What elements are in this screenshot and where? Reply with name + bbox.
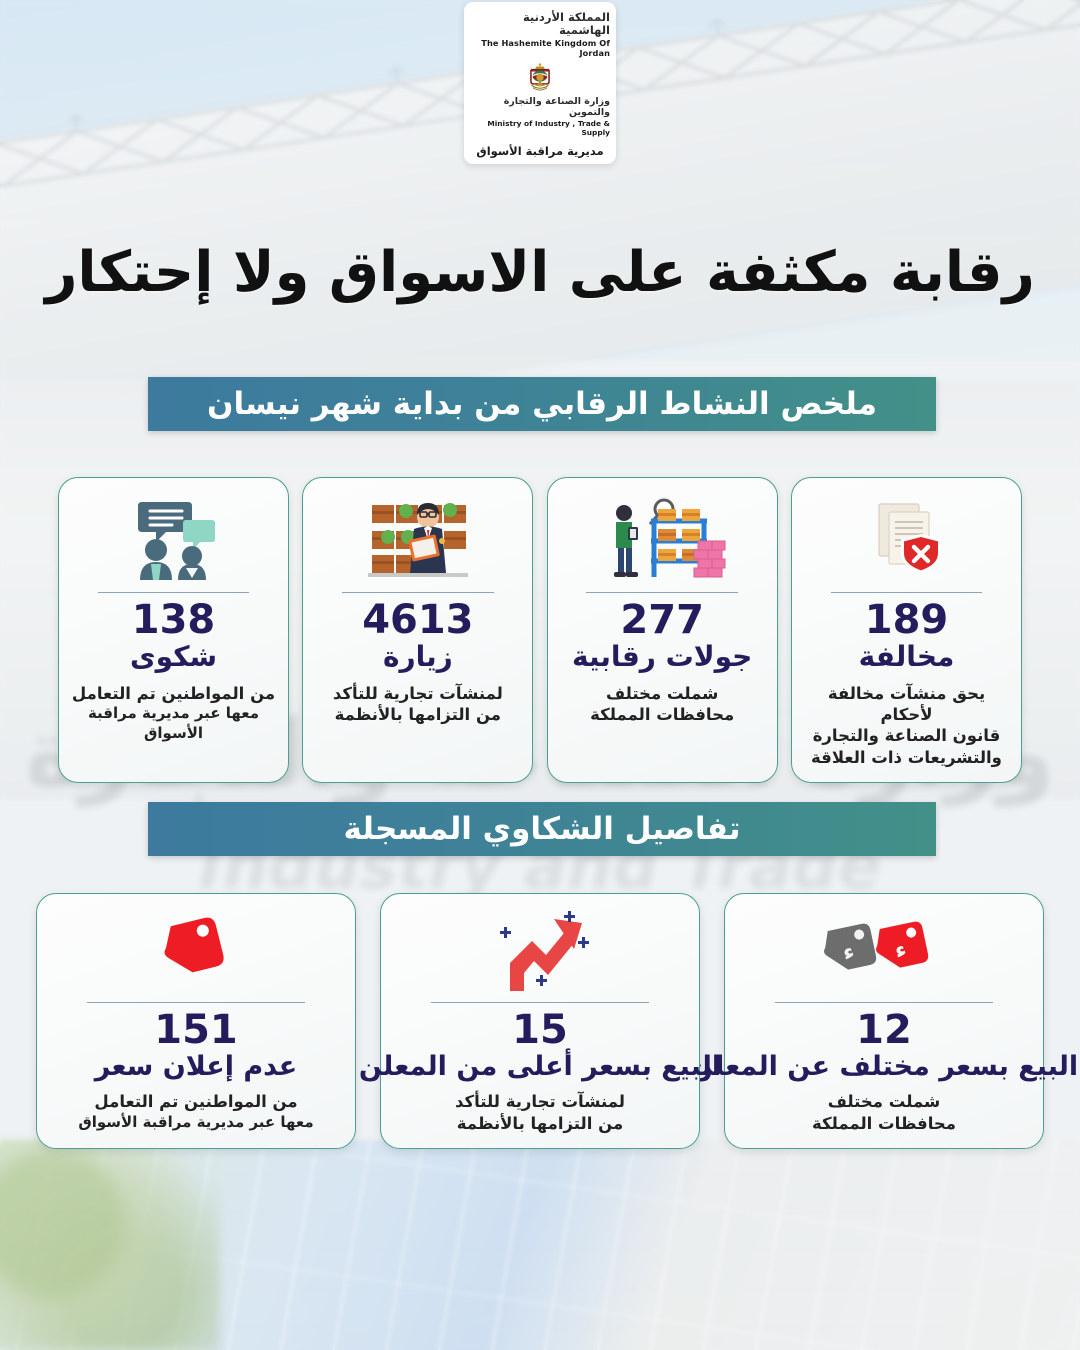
two-price-tags-icon: ء ء xyxy=(819,910,949,996)
ministry-name-english: Ministry of Industry , Trade & Supply xyxy=(470,119,610,137)
stat-description: شملت مختلف محافظات المملكة xyxy=(590,683,734,726)
card-divider xyxy=(342,592,494,593)
desc-line: والتشريعات ذات العلاقة xyxy=(804,747,1009,768)
stat-number: 138 xyxy=(132,599,216,641)
stat-card-inspection-rounds[interactable]: 277 جولات رقابية شملت مختلف محافظات المم… xyxy=(547,477,778,783)
section-banner-label: ملخص النشاط الرقابي من بداية شهر نيسان xyxy=(207,386,877,422)
stat-description: يحق منشآت مخالفة لأحكام قانون الصناعة وا… xyxy=(804,683,1009,769)
stat-description: من المواطنين تم التعامل معها عبر مديرية … xyxy=(71,683,276,743)
infographic-page: المملكة الأردنية الهاشمية The Hashemite … xyxy=(0,0,1080,1350)
stat-label: جولات رقابية xyxy=(572,641,752,673)
desc-line: لمنشآت تجارية للتأكد xyxy=(333,683,503,704)
card-divider xyxy=(87,1002,305,1003)
kingdom-name-arabic: المملكة الأردنية الهاشمية xyxy=(470,11,610,36)
card-divider xyxy=(775,1002,993,1003)
stat-label: شكوى xyxy=(130,641,217,673)
section-banner-label: تفاصيل الشكاوي المسجلة xyxy=(344,811,741,847)
rising-arrow-price-icon xyxy=(480,910,600,996)
stat-description: شملت مختلف محافظات المملكة xyxy=(812,1091,956,1134)
desc-line: يحق منشآت مخالفة لأحكام xyxy=(804,683,1009,726)
ministry-name-arabic: وزارة الصناعة والتجارة والتموين xyxy=(470,97,610,118)
stat-number: 189 xyxy=(865,599,949,641)
stat-number: 4613 xyxy=(362,599,473,641)
desc-line: قانون الصناعة والتجارة xyxy=(804,725,1009,746)
stat-number: 12 xyxy=(856,1009,912,1051)
kingdom-name-english: The Hashemite Kingdom Of Jordan xyxy=(470,38,610,58)
page-title: رقابة مكثفة على الاسواق ولا إحتكار xyxy=(0,240,1080,305)
desc-line: شملت مختلف xyxy=(812,1091,956,1112)
department-name: مديرية مراقبة الأسواق xyxy=(476,144,603,158)
stat-card-complaints[interactable]: 138 شكوى من المواطنين تم التعامل معها عب… xyxy=(58,477,289,783)
section-banner-activity-summary: ملخص النشاط الرقابي من بداية شهر نيسان xyxy=(148,377,936,431)
desc-line: من التزامها بالأنظمة xyxy=(455,1113,625,1134)
desc-line: معها عبر مديرية مراقبة الأسواق xyxy=(78,1113,313,1133)
jordan-coat-of-arms-icon xyxy=(514,61,566,95)
stat-cards-row-top: 189 مخالفة يحق منشآت مخالفة لأحكام قانون… xyxy=(58,477,1022,783)
stat-number: 15 xyxy=(512,1009,568,1051)
ministry-logo-card: المملكة الأردنية الهاشمية The Hashemite … xyxy=(464,2,616,164)
people-speech-bubbles-complaint-icon xyxy=(124,494,224,586)
desc-line: من التزامها بالأنظمة xyxy=(333,704,503,725)
desc-line: محافظات المملكة xyxy=(590,704,734,725)
card-divider xyxy=(431,1002,649,1003)
inspector-warehouse-magnifier-icon xyxy=(598,494,726,586)
card-divider xyxy=(586,592,738,593)
documents-shield-violation-icon xyxy=(865,494,949,586)
stat-label: البيع بسعر أعلى من المعلن xyxy=(359,1051,721,1082)
stat-label: مخالفة xyxy=(859,641,955,673)
stat-card-price-differs[interactable]: ء ء 12 البيع بسعر مختلف عن المعلن شملت م… xyxy=(724,893,1044,1149)
stat-description: لمنشآت تجارية للتأكد من التزامها بالأنظم… xyxy=(333,683,503,726)
desc-line: شملت مختلف xyxy=(590,683,734,704)
desc-line: محافظات المملكة xyxy=(812,1113,956,1134)
desc-line: معها عبر مديرية مراقبة الأسواق xyxy=(71,704,276,743)
section-banner-complaint-details: تفاصيل الشكاوي المسجلة xyxy=(148,802,936,856)
desc-line: من المواطنين تم التعامل xyxy=(71,683,276,704)
desc-line: لمنشآت تجارية للتأكد xyxy=(455,1091,625,1112)
stat-card-violations[interactable]: 189 مخالفة يحق منشآت مخالفة لأحكام قانون… xyxy=(791,477,1022,783)
desc-line: من المواطنين تم التعامل xyxy=(78,1091,313,1112)
stat-card-price-higher[interactable]: 15 البيع بسعر أعلى من المعلن لمنشآت تجار… xyxy=(380,893,700,1149)
stat-card-no-price-display[interactable]: 151 عدم إعلان سعر من المواطنين تم التعام… xyxy=(36,893,356,1149)
stat-label: عدم إعلان سعر xyxy=(95,1051,297,1082)
single-price-tag-icon xyxy=(148,910,244,996)
stat-number: 277 xyxy=(620,599,704,641)
stat-description: من المواطنين تم التعامل معها عبر مديرية … xyxy=(78,1091,313,1132)
stat-number: 151 xyxy=(154,1009,238,1051)
stat-card-visits[interactable]: 4613 زيارة لمنشآت تجارية للتأكد من التزا… xyxy=(302,477,533,783)
stat-description: لمنشآت تجارية للتأكد من التزامها بالأنظم… xyxy=(455,1091,625,1134)
inspector-clipboard-shelves-icon xyxy=(358,494,478,586)
stat-cards-row-bottom: ء ء 12 البيع بسعر مختلف عن المعلن شملت م… xyxy=(36,893,1044,1149)
stat-label: البيع بسعر مختلف عن المعلن xyxy=(690,1051,1078,1082)
stat-label: زيارة xyxy=(383,641,453,673)
card-divider xyxy=(831,592,983,593)
card-divider xyxy=(98,592,250,593)
